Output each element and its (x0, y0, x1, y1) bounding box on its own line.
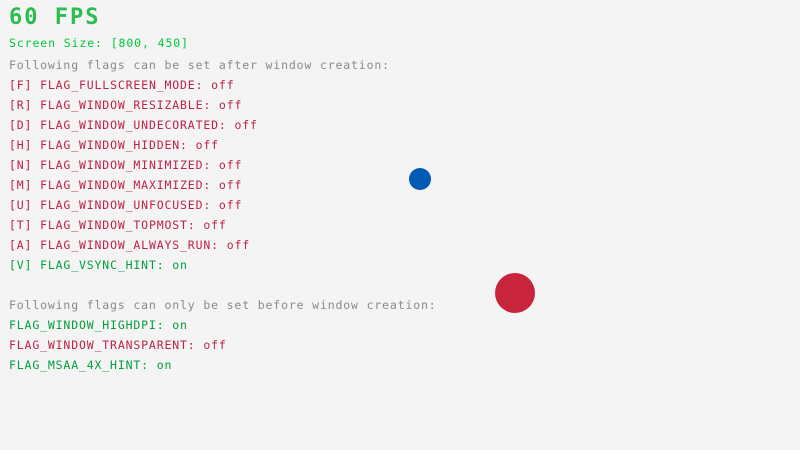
fps-counter: 60 FPS (9, 7, 100, 29)
flag-row[interactable]: FLAG_WINDOW_HIGHDPI: on (9, 319, 188, 331)
flag-name: FLAG_WINDOW_TOPMOST (40, 218, 188, 232)
flag-shortcut-key: [F] (9, 78, 40, 92)
flag-shortcut-key: [N] (9, 158, 40, 172)
flag-separator: : (203, 158, 219, 172)
flag-name: FLAG_FULLSCREEN_MODE (40, 78, 195, 92)
flag-separator: : (188, 338, 204, 352)
flag-shortcut-key: [H] (9, 138, 40, 152)
flag-row[interactable]: [U] FLAG_WINDOW_UNFOCUSED: off (9, 199, 242, 211)
flag-state-value: off (227, 238, 250, 252)
flag-name: FLAG_WINDOW_TRANSPARENT (9, 338, 188, 352)
flag-row[interactable]: [N] FLAG_WINDOW_MINIMIZED: off (9, 159, 242, 171)
flag-state-value: off (219, 198, 242, 212)
flag-shortcut-key: [U] (9, 198, 40, 212)
flag-separator: : (157, 318, 173, 332)
flag-name: FLAG_MSAA_4X_HINT (9, 358, 141, 372)
flag-separator: : (196, 78, 212, 92)
flag-row[interactable]: [F] FLAG_FULLSCREEN_MODE: off (9, 79, 234, 91)
blue-circle-shape (409, 168, 431, 190)
flag-row[interactable]: FLAG_WINDOW_TRANSPARENT: off (9, 339, 227, 351)
flag-state-value: off (203, 338, 226, 352)
section-heading-after-creation: Following flags can be set after window … (9, 59, 390, 71)
flag-row[interactable]: [R] FLAG_WINDOW_RESIZABLE: off (9, 99, 242, 111)
flag-state-value: off (203, 218, 226, 232)
section-heading-before-creation: Following flags can only be set before w… (9, 299, 437, 311)
flag-separator: : (219, 118, 235, 132)
flag-name: FLAG_WINDOW_HIGHDPI (9, 318, 157, 332)
flag-state-value: on (157, 358, 173, 372)
flag-separator: : (211, 238, 227, 252)
flag-name: FLAG_WINDOW_RESIZABLE (40, 98, 203, 112)
flag-shortcut-key: [R] (9, 98, 40, 112)
flag-row[interactable]: FLAG_MSAA_4X_HINT: on (9, 359, 172, 371)
flag-name: FLAG_WINDOW_UNDECORATED (40, 118, 219, 132)
flag-state-value: off (219, 178, 242, 192)
flag-separator: : (141, 358, 157, 372)
flag-state-value: off (219, 158, 242, 172)
flag-name: FLAG_WINDOW_MINIMIZED (40, 158, 203, 172)
flag-state-value: off (211, 78, 234, 92)
red-circle-shape (495, 273, 535, 313)
flag-separator: : (188, 218, 204, 232)
flag-shortcut-key: [V] (9, 258, 40, 272)
flag-separator: : (203, 178, 219, 192)
flag-name: FLAG_WINDOW_ALWAYS_RUN (40, 238, 211, 252)
flag-separator: : (203, 198, 219, 212)
flag-name: FLAG_VSYNC_HINT (40, 258, 157, 272)
flag-state-value: on (172, 318, 188, 332)
flag-state-value: off (219, 98, 242, 112)
screen-size-label: Screen Size: [800, 450] (9, 37, 189, 49)
flag-name: FLAG_WINDOW_MAXIMIZED (40, 178, 203, 192)
flag-shortcut-key: [M] (9, 178, 40, 192)
app-canvas: 60 FPS Screen Size: [800, 450] Following… (0, 0, 800, 450)
flag-separator: : (180, 138, 196, 152)
flag-shortcut-key: [A] (9, 238, 40, 252)
flag-shortcut-key: [D] (9, 118, 40, 132)
flag-separator: : (203, 98, 219, 112)
flag-separator: : (157, 258, 173, 272)
flag-row[interactable]: [D] FLAG_WINDOW_UNDECORATED: off (9, 119, 258, 131)
flag-state-value: off (196, 138, 219, 152)
flag-row[interactable]: [A] FLAG_WINDOW_ALWAYS_RUN: off (9, 239, 250, 251)
flag-row[interactable]: [H] FLAG_WINDOW_HIDDEN: off (9, 139, 219, 151)
flag-name: FLAG_WINDOW_HIDDEN (40, 138, 180, 152)
flag-shortcut-key: [T] (9, 218, 40, 232)
flag-row[interactable]: [V] FLAG_VSYNC_HINT: on (9, 259, 188, 271)
flag-row[interactable]: [T] FLAG_WINDOW_TOPMOST: off (9, 219, 227, 231)
flag-row[interactable]: [M] FLAG_WINDOW_MAXIMIZED: off (9, 179, 242, 191)
flag-state-value: on (172, 258, 188, 272)
flag-name: FLAG_WINDOW_UNFOCUSED (40, 198, 203, 212)
flag-state-value: off (234, 118, 257, 132)
